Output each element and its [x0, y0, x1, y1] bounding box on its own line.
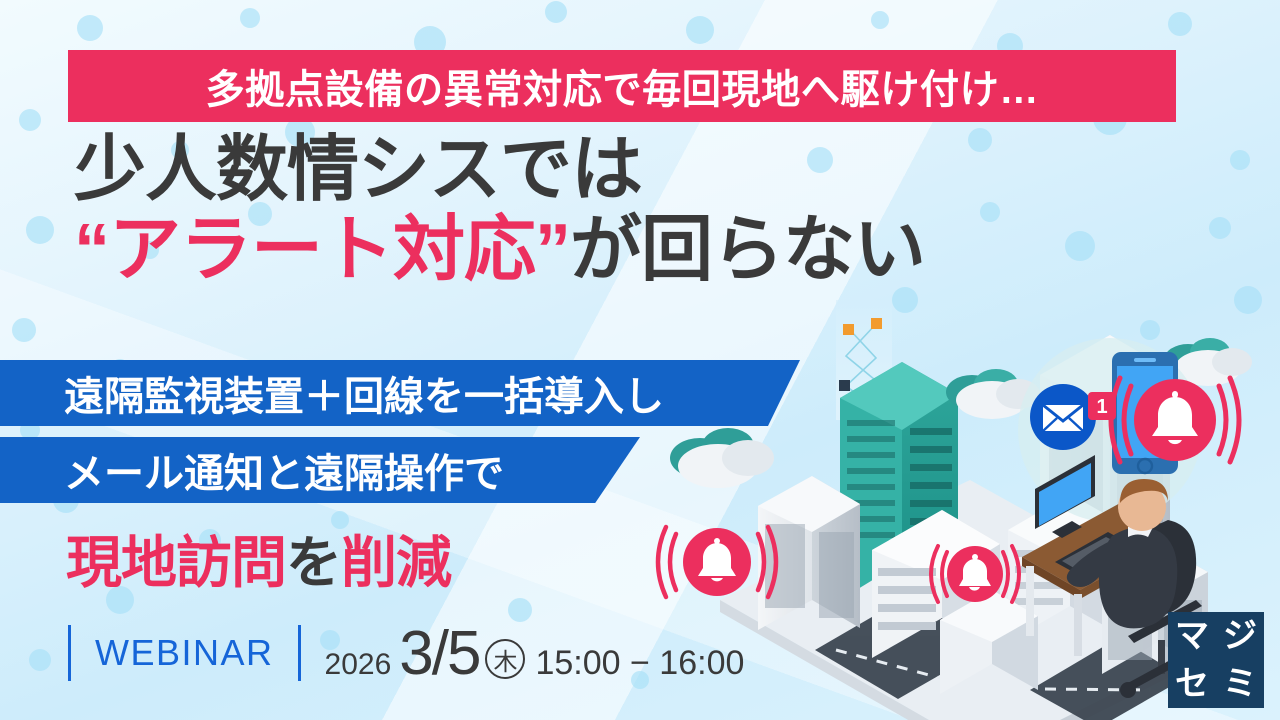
headline-line-2: “アラート対応”が回らない: [74, 212, 1204, 288]
event-datetime: 2026 3/5 木 15:00 − 16:00: [325, 618, 745, 689]
logo-char-3: セ: [1175, 667, 1209, 701]
blue-band-2-text: メール通知と遠隔操作で: [64, 441, 504, 499]
subline-part-3: 削減: [341, 531, 451, 594]
headline-highlight: アラート対応: [109, 210, 535, 290]
footer-bar: WEBINAR 2026 3/5 木 15:00 − 16:00: [68, 624, 744, 682]
eyebrow-ribbon: 多拠点設備の異常対応で毎回現地へ駆け付け…: [68, 50, 1176, 122]
divider-right: [298, 625, 301, 681]
cloud-icon-right: [1164, 338, 1252, 386]
headline-quote-close: ”: [535, 210, 570, 290]
background-dot: [12, 318, 36, 342]
background-dot: [686, 16, 714, 44]
headline-line-1: 少人数情シスでは: [74, 132, 1204, 208]
majiseminar-logo[interactable]: マ ジ セ ミ: [1168, 612, 1264, 708]
divider-left: [68, 625, 71, 681]
event-month-day: 3/5: [399, 618, 479, 689]
event-time: 15:00 − 16:00: [535, 644, 744, 683]
background-dot: [1168, 12, 1192, 36]
blue-band-1: 遠隔監視装置＋回線を一括導入し: [0, 360, 800, 426]
event-day-of-week: 木: [485, 639, 525, 679]
background-dot: [545, 1, 567, 23]
background-dot: [29, 649, 51, 671]
subline-part-2: を: [286, 531, 341, 594]
subline-part-1: 現地訪問: [66, 531, 286, 594]
cloud-icon-mid: [946, 369, 1040, 419]
background-dot: [1230, 150, 1250, 170]
headline-block: 少人数情シスでは “アラート対応”が回らない: [74, 132, 1204, 289]
logo-char-4: ミ: [1223, 667, 1257, 701]
event-year: 2026: [325, 648, 392, 682]
headline-tail: が回らない: [570, 210, 925, 290]
cloud-icon-left: [670, 428, 774, 488]
logo-char-2: ジ: [1223, 619, 1257, 653]
background-dot: [871, 11, 889, 29]
webinar-banner: 1: [0, 0, 1280, 720]
webinar-label: WEBINAR: [95, 632, 274, 674]
background-dot: [1209, 217, 1231, 239]
background-dot: [77, 15, 103, 41]
logo-char-1: マ: [1175, 619, 1209, 653]
background-dot: [240, 8, 260, 28]
blue-band-1-text: 遠隔監視装置＋回線を一括導入し: [64, 364, 664, 422]
blue-band-2: メール通知と遠隔操作で: [0, 437, 640, 503]
background-dot: [19, 109, 41, 131]
eyebrow-text: 多拠点設備の異常対応で毎回現地へ駆け付け…: [205, 57, 1038, 115]
subline-block: 現地訪問を削減: [66, 518, 451, 599]
headline-quote-open: “: [74, 210, 109, 290]
background-dot: [26, 216, 54, 244]
